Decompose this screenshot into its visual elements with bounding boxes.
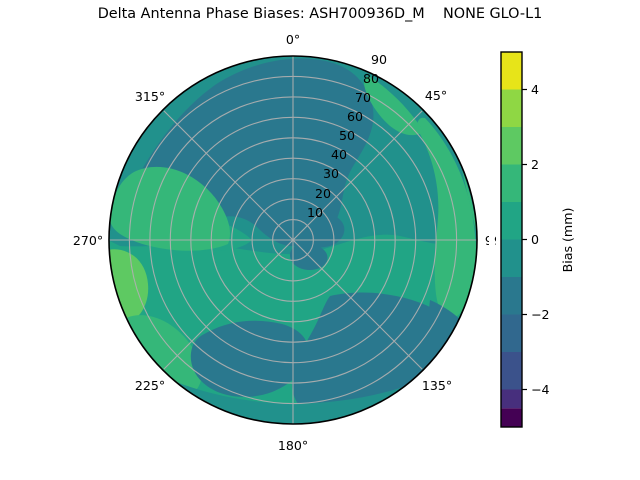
colorbar-band-neg4-neg3: [501, 352, 522, 390]
colorbar-band-neg1-0: [501, 240, 522, 278]
colorbar-band-3-4: [501, 90, 522, 128]
radial-label-90: 90: [371, 52, 387, 67]
colorbar-band-neg3-neg2: [501, 315, 522, 353]
colorbar-tick-label-4: 4: [531, 82, 539, 97]
angular-label-45: 45°: [425, 88, 447, 103]
colorbar-band-1-2: [501, 165, 522, 203]
colorbar-band-neg5-neg45: [501, 408, 522, 427]
figure-canvas: Delta Antenna Phase Biases: ASH700936D_M…: [0, 0, 640, 480]
angular-label-315: 315°: [135, 89, 165, 104]
polar-plot-svg: 0° 45° 90° 135° 180° 225° 270° 315° 90° …: [0, 0, 640, 480]
colorbar-tick-label--4: −4: [531, 382, 550, 397]
angular-label-225: 225°: [135, 378, 165, 393]
angular-label-270: 270°: [73, 233, 103, 248]
angular-label-0: 0°: [286, 32, 300, 47]
colorbar-tick-label-2: 2: [531, 157, 539, 172]
angular-label-135: 135°: [422, 378, 452, 393]
colorbar-band-neg45-neg4: [501, 390, 522, 409]
radial-label-10: 10: [307, 205, 323, 220]
colorbar-band-0-1: [501, 202, 522, 240]
radial-label-40: 40: [331, 147, 347, 162]
radial-label-70: 70: [355, 90, 371, 105]
radial-label-30: 30: [323, 166, 339, 181]
radial-label-60: 60: [347, 109, 363, 124]
colorbar-band-2-3: [501, 127, 522, 165]
colorbar-band-neg2-neg1: [501, 277, 522, 315]
colorbar-tick-label--2: −2: [531, 307, 550, 322]
colorbar-bands: [501, 52, 522, 427]
contour-band-se-outer-dark: [429, 300, 472, 382]
radial-label-20: 20: [315, 186, 331, 201]
colorbar-tick-label-0: 0: [531, 232, 539, 247]
radial-label-80: 80: [363, 71, 379, 86]
radial-label-50: 50: [339, 128, 355, 143]
colorbar-group[interactable]: −4 −2 0 2 4 Bias (mm): [496, 46, 575, 434]
angular-label-180: 180°: [278, 438, 308, 453]
colorbar-axis-label: Bias (mm): [560, 208, 575, 273]
colorbar-band-4-5: [501, 52, 522, 90]
polar-grid: [109, 56, 477, 424]
